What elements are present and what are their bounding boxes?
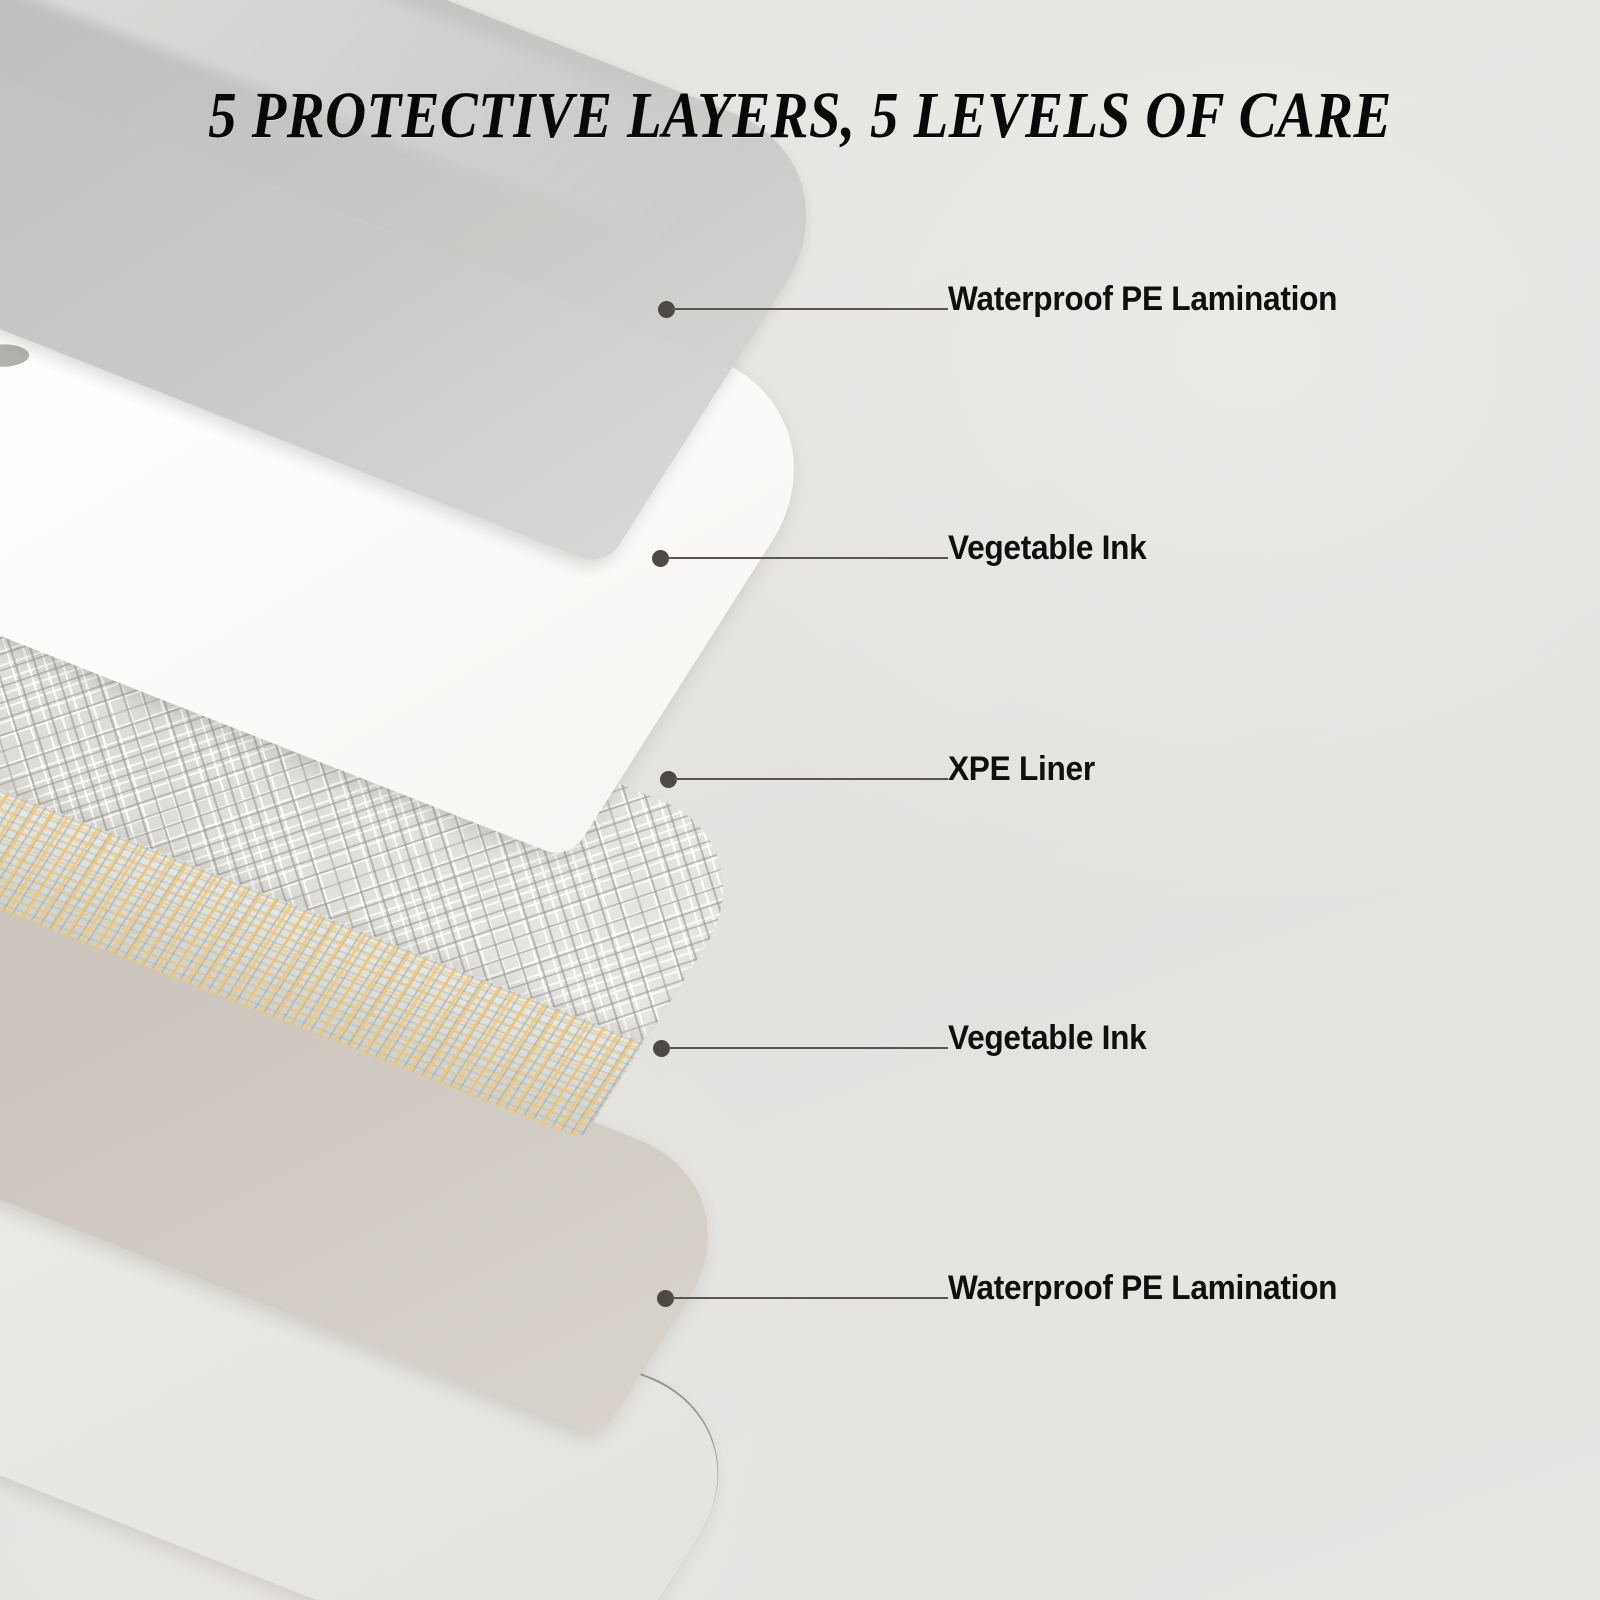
triangle-motif bbox=[47, 964, 107, 1018]
callout-leader-line bbox=[667, 1047, 948, 1049]
infographic-canvas: is for Bird is for bbox=[0, 0, 1600, 1600]
callout-label: Waterproof PE Lamination bbox=[948, 280, 1337, 319]
triangle-motif bbox=[157, 1094, 208, 1140]
triangle-motif bbox=[173, 1215, 223, 1260]
triangle-motif bbox=[439, 1199, 489, 1244]
callout-leader-line bbox=[672, 308, 948, 310]
callout-label: Waterproof PE Lamination bbox=[948, 1269, 1337, 1308]
callout-label: Vegetable Ink bbox=[948, 1019, 1146, 1058]
callout-leader-line bbox=[674, 778, 948, 780]
triangle-motif bbox=[365, 1075, 425, 1129]
callout-label: Vegetable Ink bbox=[948, 529, 1146, 568]
callout-leader-line bbox=[666, 557, 948, 559]
callout-leader-line bbox=[671, 1297, 948, 1299]
page-title: 5 PROTECTIVE LAYERS, 5 LEVELS OF CARE bbox=[112, 78, 1488, 154]
callout-label: XPE Liner bbox=[948, 750, 1095, 789]
